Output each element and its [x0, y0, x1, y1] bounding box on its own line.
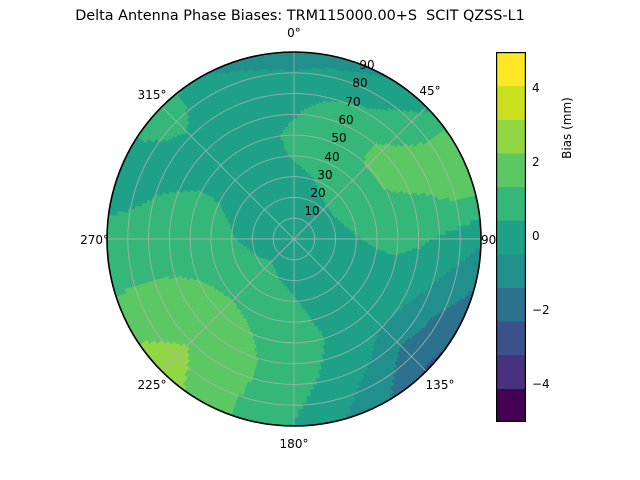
r-label-60: 60	[328, 113, 364, 127]
theta-label-45: 45°	[400, 84, 460, 98]
r-label-50: 50	[321, 131, 357, 145]
colorbar-tick-4: 4	[532, 81, 540, 95]
theta-label-180: 180°	[264, 437, 324, 451]
theta-label-225: 225°	[122, 378, 182, 392]
polar-grid	[107, 52, 481, 426]
r-label-10: 10	[294, 204, 330, 218]
colorbar-tick-0: −4	[532, 377, 550, 391]
theta-label-270: 270°	[61, 233, 109, 247]
colorbar[interactable]	[496, 52, 526, 422]
r-label-40: 40	[314, 150, 350, 164]
r-label-20: 20	[300, 186, 336, 200]
colorbar-tick-3: 2	[532, 155, 540, 169]
colorbar-label: Bias (mm)	[560, 68, 574, 188]
theta-label-135: 135°	[410, 378, 470, 392]
theta-label-0: 0°	[264, 26, 324, 40]
r-label-80: 80	[342, 76, 378, 90]
r-label-90: 90	[349, 58, 385, 72]
theta-label-315: 315°	[122, 88, 182, 102]
colorbar-tick-1: −2	[532, 303, 550, 317]
r-label-30: 30	[307, 168, 343, 182]
r-label-70: 70	[335, 95, 371, 109]
colorbar-tick-2: 0	[532, 229, 540, 243]
figure-canvas: Delta Antenna Phase Biases: TRM115000.00…	[0, 0, 640, 480]
